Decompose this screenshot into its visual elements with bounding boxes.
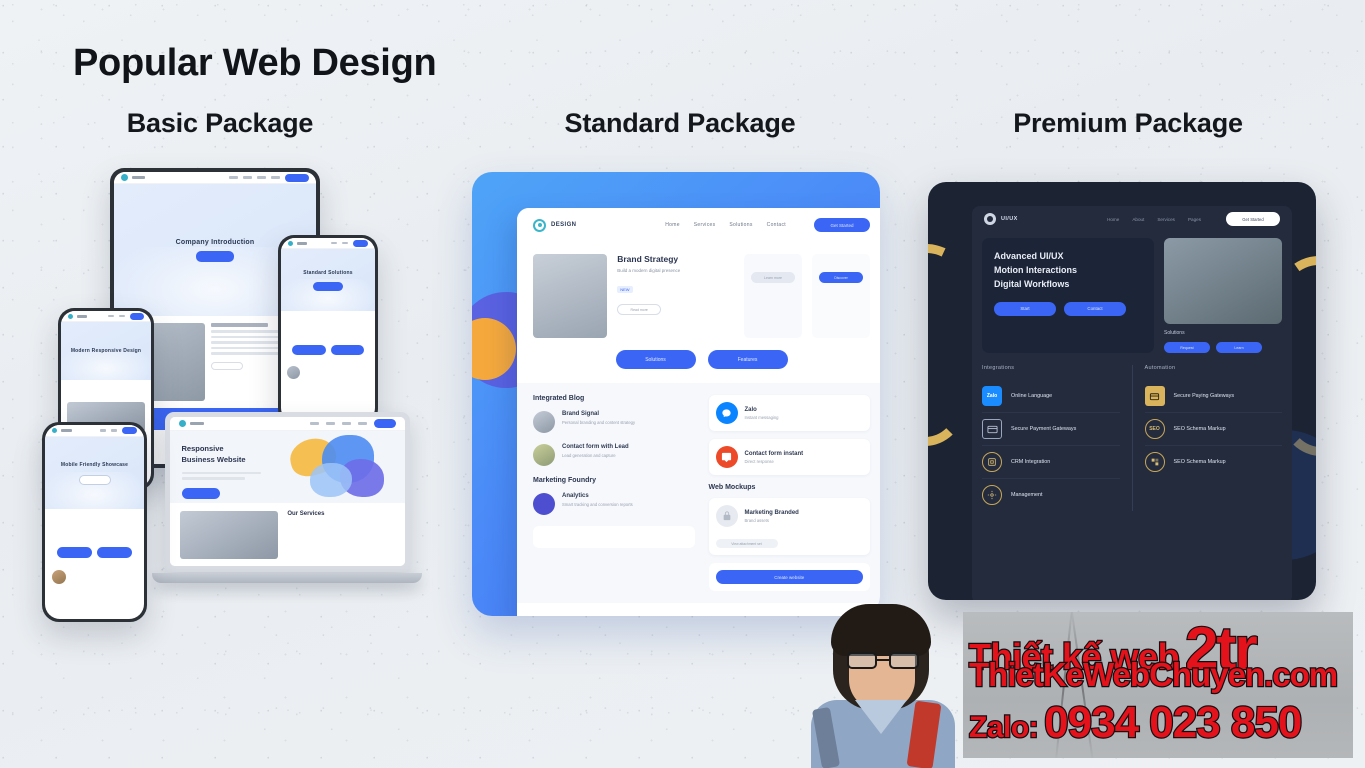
section-heading-marketing: Marketing Foundry: [533, 477, 695, 484]
brand-logo-icon: [121, 174, 128, 181]
nav-get-started-button[interactable]: Get Started: [1226, 212, 1280, 226]
premium-hero: Advanced UI/UX Motion Interactions Digit…: [982, 238, 1282, 353]
feature-title: Brand Signal: [562, 411, 635, 417]
device-phone-right: Standard Solutions: [278, 235, 378, 425]
phone-right-hero: Standard Solutions: [281, 249, 375, 311]
hero-line-3: Digital Workflows: [994, 279, 1069, 289]
phone-middle-navbar: [61, 311, 151, 322]
hero-tag: NEW: [617, 286, 632, 293]
create-website-card: Create website: [709, 563, 871, 591]
card-title: Marketing Branded: [745, 510, 799, 516]
standard-cta-row: Solutions Features: [517, 346, 880, 383]
phone-front-navbar: [45, 425, 144, 437]
decor-arc-left-bottom: [928, 368, 964, 446]
integration-label: CRM Integration: [1011, 458, 1050, 466]
phone-right-card: [286, 316, 370, 361]
hero-right-buttons: Request Learn: [1164, 342, 1282, 353]
package-title-basic: Basic Package: [60, 108, 380, 139]
phone-right-cta[interactable]: [353, 240, 368, 247]
phone-front-hero-heading: Mobile Friendly Showcase: [61, 461, 128, 470]
standard-lower-left: Integrated Blog Brand Signal Personal br…: [533, 395, 695, 591]
watermark-phone-number: 0934 023 850: [1044, 698, 1301, 748]
watermark-domain: ThietKeWebChuyen.com: [969, 656, 1337, 693]
brand-logo-icon: [533, 219, 546, 232]
mini-card[interactable]: Marketing Branded Brand assets View atta…: [709, 498, 871, 555]
hero-image: [533, 254, 607, 338]
watermark-line-2: ThietKeWebChuyen.com: [969, 656, 1337, 694]
feature-item: Contact form with Lead Lead generation a…: [533, 444, 695, 466]
premium-page: UI/UX Home About Services Pages Get Star…: [972, 206, 1292, 600]
premium-navbar: UI/UX Home About Services Pages Get Star…: [972, 206, 1292, 232]
hero-request-button[interactable]: Request: [1164, 342, 1210, 353]
analytics-icon: [533, 493, 555, 515]
tablet-content-button[interactable]: [211, 362, 243, 370]
hero-line-2: Motion Interactions: [994, 265, 1077, 275]
hero-read-more-button[interactable]: Read more: [617, 304, 661, 315]
page-title: Popular Web Design: [73, 42, 436, 85]
brand-logo-icon: [68, 314, 73, 319]
laptop-hero-line2: Business Website: [182, 455, 246, 464]
phone-front-hero: Mobile Friendly Showcase: [45, 437, 144, 509]
feature-desc: Smart tracking and conversion reports: [562, 502, 633, 509]
laptop-nav-cta[interactable]: [374, 419, 396, 428]
automation-label: SEO Schema Markup: [1174, 425, 1226, 433]
standard-lower-section: Integrated Blog Brand Signal Personal br…: [517, 383, 880, 603]
brand-logo-text: UI/UX: [1001, 216, 1018, 222]
phone-front-testimonial: [45, 570, 144, 584]
lock-icon: [716, 505, 738, 527]
nav-link-services[interactable]: Services: [694, 222, 716, 228]
standard-navbar: DESIGN Home Services Solutions Contact G…: [517, 208, 880, 242]
premium-hero-heading: Advanced UI/UX Motion Interactions Digit…: [994, 250, 1142, 292]
phone-right-navbar: [281, 238, 375, 249]
feature-title: Contact form with Lead: [562, 444, 629, 450]
hero-image: [1164, 238, 1282, 324]
laptop-services-image: [180, 511, 279, 559]
premium-lower-section: Integrations Zalo Online Language Secure…: [982, 365, 1282, 511]
automation-item[interactable]: SEO SEO Schema Markup: [1145, 413, 1283, 446]
zalo-icon: Zalo: [982, 386, 1002, 406]
hero-right-caption: Solutions: [1164, 330, 1282, 336]
card-desc: Brand assets: [745, 518, 799, 523]
card-desc: Instant messaging: [745, 415, 779, 420]
phone-right-hero-button[interactable]: [313, 282, 343, 291]
laptop-hero-button[interactable]: [182, 488, 220, 499]
crm-icon: [982, 452, 1002, 472]
column-1-button[interactable]: Learn more: [751, 272, 795, 283]
card-attachment-button[interactable]: View attachment set: [716, 539, 778, 548]
tablet-hero-heading: Company Introduction: [176, 239, 255, 246]
hero-learn-button[interactable]: Learn: [1216, 342, 1262, 353]
feature-title: Analytics: [562, 493, 633, 499]
section-heading-mockups: Web Mockups: [709, 484, 871, 491]
phone-front-bezel: Mobile Friendly Showcase: [42, 422, 147, 622]
brand-logo-icon: [288, 241, 293, 246]
section-heading-automation: Automation: [1145, 365, 1283, 371]
phone-front-cta[interactable]: [122, 427, 137, 434]
premium-hero-left: Advanced UI/UX Motion Interactions Digit…: [982, 238, 1154, 353]
nav-link-services[interactable]: Services: [1157, 217, 1175, 222]
avatar: [52, 570, 66, 584]
phone-right-screen: Standard Solutions: [281, 238, 375, 422]
standard-hero: Brand Strategy Build a modern digital pr…: [517, 242, 880, 346]
brand-logo-text: [190, 422, 204, 425]
laptop-hero-line1: Responsive: [182, 444, 224, 453]
laptop-services-heading: Our Services: [287, 511, 394, 517]
cta-features-button[interactable]: Features: [708, 350, 788, 369]
feature-card-partial: [533, 526, 695, 548]
seo-icon: SEO: [1145, 419, 1165, 439]
schema-icon: [1145, 452, 1165, 472]
automation-label: Secure Paying Gateways: [1174, 392, 1235, 400]
integration-label: Secure Payment Gateways: [1011, 425, 1076, 433]
laptop-lid: Responsive Business Website: [165, 412, 410, 572]
settings-icon: [982, 485, 1002, 505]
integration-item[interactable]: Secure Payment Gateways: [982, 413, 1120, 446]
standard-package-mockup: DESIGN Home Services Solutions Contact G…: [472, 172, 880, 616]
integration-label: Online Language: [1011, 392, 1052, 400]
section-heading-integrations: Integrations: [982, 365, 1120, 371]
standard-lower-right: Zalo Instant messaging Contact form inst…: [709, 395, 871, 591]
brand-logo-icon: [52, 428, 57, 433]
premium-hero-right: Solutions Request Learn: [1164, 238, 1282, 353]
phone-right-btn-1[interactable]: [292, 345, 326, 355]
integration-item[interactable]: Zalo Online Language: [982, 380, 1120, 413]
feature-item: Brand Signal Personal branding and conte…: [533, 411, 695, 433]
hero-heading: Brand Strategy: [617, 254, 734, 264]
laptop-screen: Responsive Business Website: [170, 417, 405, 566]
phone-front-card: [50, 514, 139, 565]
feature-desc: Personal branding and content strategy: [562, 420, 635, 427]
watermark-banner: Thiết kế web 2tr ThietKeWebChuyen.com Za…: [963, 612, 1353, 758]
tablet-hero-button[interactable]: [196, 251, 234, 262]
hero-column-1: Learn more: [744, 254, 802, 338]
feature-item: Analytics Smart tracking and conversion …: [533, 493, 695, 515]
tablet-nav-cta[interactable]: [285, 174, 309, 182]
create-website-button[interactable]: Create website: [716, 570, 864, 584]
phone-right-btn-2[interactable]: [331, 345, 365, 355]
basic-package-mockup: Company Introduction: [30, 160, 450, 630]
package-title-standard: Standard Package: [520, 108, 840, 139]
phone-middle-hero: Modern Responsive Design: [61, 322, 151, 380]
mini-card[interactable]: Zalo Instant messaging: [709, 395, 871, 431]
hero-line-1: Advanced UI/UX: [994, 251, 1064, 261]
tablet-nav-links: [229, 174, 309, 182]
premium-nav-links: Home About Services Pages Get Started: [1107, 212, 1280, 226]
package-title-premium: Premium Package: [968, 108, 1288, 139]
phone-right-hero-heading: Standard Solutions: [303, 269, 352, 278]
phone-front-hero-button[interactable]: [79, 475, 111, 485]
payment-icon: [1145, 386, 1165, 406]
integration-item[interactable]: Management: [982, 479, 1120, 511]
nav-link-home[interactable]: Home: [665, 222, 680, 228]
cta-solutions-button[interactable]: Solutions: [616, 350, 696, 369]
device-laptop: Responsive Business Website: [152, 412, 422, 590]
automation-label: SEO Schema Markup: [1174, 458, 1226, 466]
automation-item[interactable]: SEO Schema Markup: [1145, 446, 1283, 478]
hero-subheading: Build a modern digital presence: [617, 268, 734, 273]
laptop-base: [152, 573, 422, 583]
premium-integrations-column: Integrations Zalo Online Language Secure…: [982, 365, 1132, 511]
card-title: Contact form instant: [745, 451, 804, 457]
automation-item[interactable]: Secure Paying Gateways: [1145, 380, 1283, 413]
phone-middle-hero-heading: Modern Responsive Design: [71, 347, 141, 356]
hero-column-2: Discover: [812, 254, 870, 338]
device-phone-front: Mobile Friendly Showcase: [42, 422, 147, 622]
brand-logo-icon: [984, 213, 996, 225]
brand-logo-text: DESIGN: [551, 222, 576, 228]
mini-card[interactable]: Contact form instant Direct response: [709, 439, 871, 475]
phone-right-bezel: Standard Solutions: [278, 235, 378, 425]
phone-middle-cta[interactable]: [130, 313, 144, 320]
hero-text: Brand Strategy Build a modern digital pr…: [617, 254, 734, 338]
phone-front-button-left[interactable]: [57, 547, 92, 558]
nav-link-contact[interactable]: Contact: [767, 222, 786, 228]
tablet-navbar: [114, 172, 316, 184]
avatar: [533, 444, 555, 466]
card-title: Zalo: [745, 407, 779, 413]
card-icon: [982, 419, 1002, 439]
watermark-line-3: Zalo: 0934 023 850: [969, 698, 1301, 748]
laptop-services-row: Our Services: [170, 503, 405, 566]
presenter-photo: [803, 596, 963, 768]
premium-package-mockup: UI/UX Home About Services Pages Get Star…: [928, 182, 1316, 600]
card-desc: Direct response: [745, 459, 804, 464]
brand-logo-text: [77, 315, 87, 318]
phone-front-screen: Mobile Friendly Showcase: [45, 425, 144, 619]
brand-logo-text: [61, 429, 72, 432]
zalo-icon: [716, 402, 738, 424]
chat-icon: [716, 446, 738, 468]
nav-link-about[interactable]: About: [1132, 217, 1144, 222]
nav-link-solutions[interactable]: Solutions: [729, 222, 752, 228]
brand-logo-icon: [179, 420, 186, 427]
premium-hero-buttons: Start Contact: [994, 302, 1142, 316]
nav-get-started-button[interactable]: Get Started: [814, 218, 870, 232]
standard-page: DESIGN Home Services Solutions Contact G…: [517, 208, 880, 616]
phone-right-testimonial: [281, 366, 375, 379]
avatar: [287, 366, 300, 379]
hero-contact-button[interactable]: Contact: [1064, 302, 1126, 316]
column-2-button[interactable]: Discover: [819, 272, 863, 283]
brand-logo-text: [132, 176, 145, 179]
section-heading-blog: Integrated Blog: [533, 395, 695, 402]
feature-desc: Lead generation and capture: [562, 453, 629, 460]
integration-item[interactable]: CRM Integration: [982, 446, 1120, 479]
nav-link-pages[interactable]: Pages: [1188, 217, 1201, 222]
hero-start-button[interactable]: Start: [994, 302, 1056, 316]
brand-logo-text: [297, 242, 307, 245]
phone-front-button-right[interactable]: [97, 547, 132, 558]
nav-link-home[interactable]: Home: [1107, 217, 1119, 222]
laptop-navbar: [170, 417, 405, 431]
standard-nav-links: Home Services Solutions Contact Get Star…: [665, 218, 870, 232]
glasses-icon: [847, 652, 919, 669]
integration-label: Management: [1011, 491, 1042, 499]
avatar: [533, 411, 555, 433]
phone-middle-body: [61, 380, 151, 402]
watermark-zalo-label: Zalo:: [969, 711, 1038, 745]
laptop-hero: Responsive Business Website: [170, 431, 405, 503]
premium-automation-column: Automation Secure Paying Gateways SEO SE…: [1132, 365, 1283, 511]
